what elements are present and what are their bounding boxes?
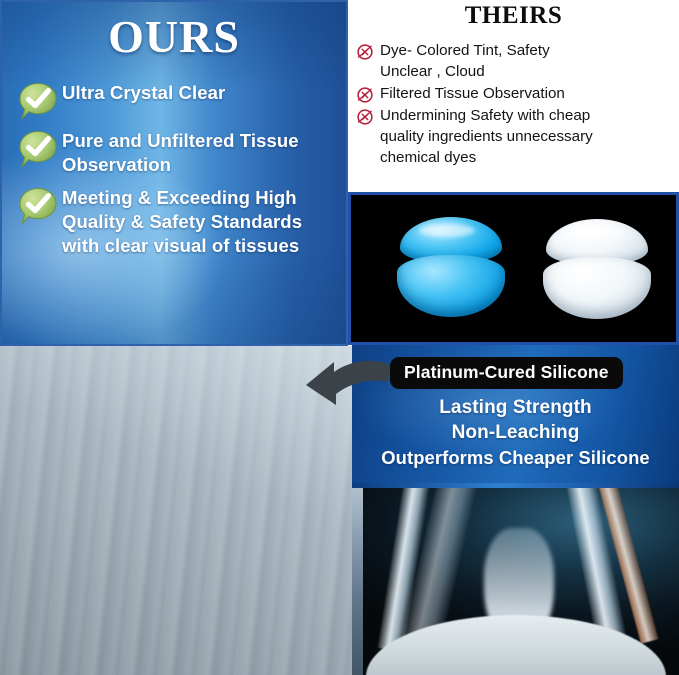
wooden-deck-background [0, 346, 352, 675]
ours-benefit-list: Ultra Crystal Clear Pure and Unfiltered … [0, 80, 348, 266]
theirs-list-item: Undermining Safety with cheap quality in… [348, 105, 679, 168]
cup-base [543, 257, 651, 319]
theirs-item-line: chemical dyes [380, 147, 677, 168]
claim-line-1: Lasting Strength [352, 395, 679, 420]
theirs-list-item: Filtered Tissue Observation [348, 83, 679, 104]
claims-text-block: Lasting Strength Non-Leaching Outperform… [352, 395, 679, 470]
theirs-list-item: Dye- Colored Tint, Safety Unclear , Clou… [348, 40, 679, 82]
theirs-item-line: Dye- Colored Tint, Safety [380, 40, 677, 61]
theirs-item-line: Undermining Safety with cheap [380, 105, 677, 126]
check-bubble-icon [18, 128, 62, 168]
circled-x-icon [356, 105, 380, 126]
ours-panel: OURS [0, 0, 348, 346]
ours-list-item: Ultra Crystal Clear [0, 80, 348, 120]
theirs-list-item-label: Dye- Colored Tint, Safety Unclear , Clou… [380, 40, 677, 82]
circled-x-icon [356, 86, 374, 104]
theirs-item-line: Filtered Tissue Observation [380, 83, 677, 104]
cups-comparison-photo [348, 192, 679, 345]
claims-panel: Platinum-Cured Silicone Lasting Strength… [352, 345, 679, 488]
check-bubble-icon [18, 82, 58, 120]
theirs-item-line: Unclear , Cloud [380, 61, 677, 82]
silicone-pour-photo [352, 488, 679, 675]
cup-highlight [419, 224, 475, 237]
circled-x-icon [356, 40, 380, 61]
circled-x-icon [356, 108, 374, 126]
product-closeup-photo [0, 346, 352, 675]
check-bubble-icon [18, 187, 58, 225]
check-bubble-icon [18, 80, 62, 120]
blue-cupping-cup [397, 217, 505, 321]
claim-line-2: Non-Leaching [352, 420, 679, 445]
ours-list-item: Meeting & Exceeding High Quality & Safet… [0, 185, 348, 258]
infographic-canvas: OURS [0, 0, 679, 675]
check-bubble-icon [18, 185, 62, 225]
theirs-title: THEIRS [348, 2, 679, 30]
theirs-drawback-list: Dye- Colored Tint, Safety Unclear , Clou… [348, 40, 679, 169]
clear-cupping-cup [543, 219, 651, 323]
theirs-item-line: quality ingredients unnecessary [380, 126, 677, 147]
ours-list-item: Pure and Unfiltered Tissue Observation [0, 128, 348, 177]
ours-title: OURS [0, 14, 348, 60]
cup-base [397, 255, 505, 317]
ours-list-item-label: Meeting & Exceeding High Quality & Safet… [62, 185, 342, 258]
pour-left-edge [352, 488, 363, 675]
theirs-list-item-label: Filtered Tissue Observation [380, 83, 677, 104]
ours-list-item-label: Pure and Unfiltered Tissue Observation [62, 128, 342, 177]
circled-x-icon [356, 83, 380, 104]
ours-list-item-label: Ultra Crystal Clear [62, 80, 342, 105]
claim-line-3: Outperforms Cheaper Silicone [352, 445, 679, 470]
circled-x-icon [356, 43, 374, 61]
platinum-cured-badge: Platinum-Cured Silicone [390, 357, 623, 389]
check-bubble-icon [18, 130, 58, 168]
theirs-list-item-label: Undermining Safety with cheap quality in… [380, 105, 677, 168]
cup-highlight [565, 226, 621, 239]
theirs-panel: THEIRS Dye- Colored Tint, Safety Unclear… [348, 0, 679, 192]
